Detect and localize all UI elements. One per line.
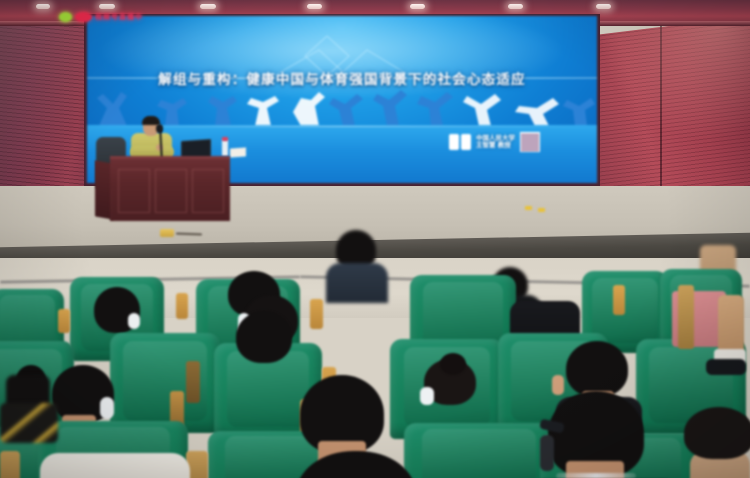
- papers: [230, 147, 246, 157]
- seat-armrest: [613, 285, 625, 315]
- qr-code-icon: [520, 132, 540, 152]
- university-name: 中国人民大学 王智慧 教授: [476, 135, 515, 150]
- ceiling-light: [508, 4, 523, 9]
- audience-head: [684, 407, 750, 459]
- audience-clothing: [0, 403, 58, 443]
- audience-hand: [552, 375, 564, 395]
- right-wall-glow: [600, 16, 750, 154]
- seat-armrest: [678, 285, 694, 349]
- university-logo-block: 中国人民大学 王智慧 教授: [449, 132, 540, 152]
- auditorium-seat: [404, 423, 554, 478]
- status-dot-icon: [59, 12, 72, 22]
- bottle-cap: [222, 137, 228, 141]
- hair-bun: [440, 353, 466, 375]
- audience-area: [0, 255, 750, 478]
- ceiling-light: [200, 4, 216, 9]
- audience-leg: [718, 295, 744, 355]
- watermark-label: 视频号直播中: [95, 12, 143, 22]
- floor-object: [160, 229, 174, 237]
- audience-clothing: [40, 453, 190, 478]
- water-bottle: [222, 140, 228, 156]
- audience-head: [236, 311, 292, 363]
- seat-armrest: [0, 451, 20, 478]
- audience-shoe: [706, 359, 746, 375]
- live-badge-icon: [75, 12, 92, 22]
- necklace: [556, 473, 636, 478]
- seat-armrest: [310, 299, 323, 329]
- face-mask: [420, 387, 434, 405]
- open-book-icon: [449, 134, 471, 150]
- audience-shoulders: [326, 263, 388, 303]
- microphone-icon: [156, 124, 163, 133]
- seat-armrest: [176, 293, 188, 319]
- face-mask: [100, 397, 114, 419]
- face-mask: [128, 313, 140, 329]
- face-mask: [540, 435, 554, 471]
- audience-head: [566, 341, 628, 397]
- live-stream-watermark: 视频号直播中: [56, 10, 146, 24]
- ceiling-light: [596, 4, 611, 9]
- lecture-hall-photo: 解组与重构：健康中国与体育强国背景下的社会心态适应 中国人民大学 王智慧 教授 …: [0, 0, 750, 478]
- seat-armrest: [186, 361, 200, 403]
- podium: [110, 156, 230, 221]
- ceiling-light: [410, 4, 425, 9]
- auditorium-seat: [110, 333, 220, 433]
- ceiling-light: [99, 4, 115, 9]
- seat-armrest: [58, 309, 70, 333]
- floor-marker: [538, 208, 545, 212]
- ceiling-light: [36, 4, 50, 9]
- floor-marker: [525, 206, 532, 210]
- athlete-silhouettes: [87, 86, 597, 128]
- ceiling-light: [307, 4, 322, 9]
- presentation-title: 解组与重构：健康中国与体育强国背景下的社会心态适应: [87, 68, 597, 88]
